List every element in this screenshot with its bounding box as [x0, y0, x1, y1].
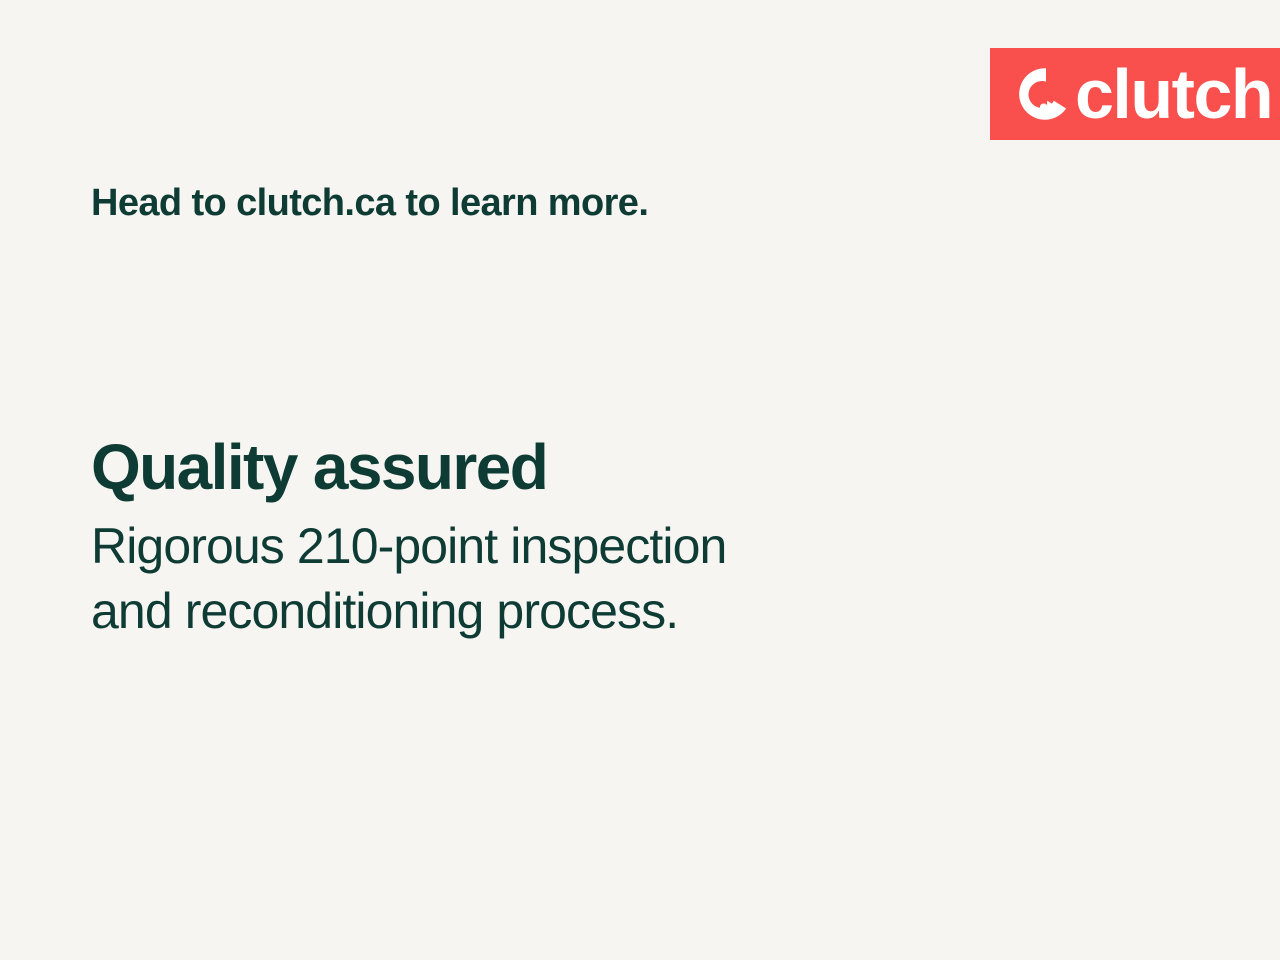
message-block: Quality assured Rigorous 210-point inspe…	[91, 432, 1091, 644]
clutch-logo-lockup: clutch	[1018, 59, 1272, 129]
clutch-speedometer-c-mark	[1018, 66, 1074, 122]
clutch-wordmark: clutch	[1075, 59, 1272, 129]
tagline-text: Head to clutch.ca to learn more.	[91, 180, 648, 228]
promo-slide: clutch Head to clutch.ca to learn more. …	[0, 0, 1280, 960]
message-body-line: Rigorous 210-point inspection	[91, 514, 1091, 579]
message-heading: Quality assured	[91, 432, 1091, 504]
clutch-brand-badge: clutch	[990, 48, 1280, 140]
message-body-line: and reconditioning process.	[91, 579, 1091, 644]
message-body: Rigorous 210-point inspection and recond…	[91, 514, 1091, 644]
